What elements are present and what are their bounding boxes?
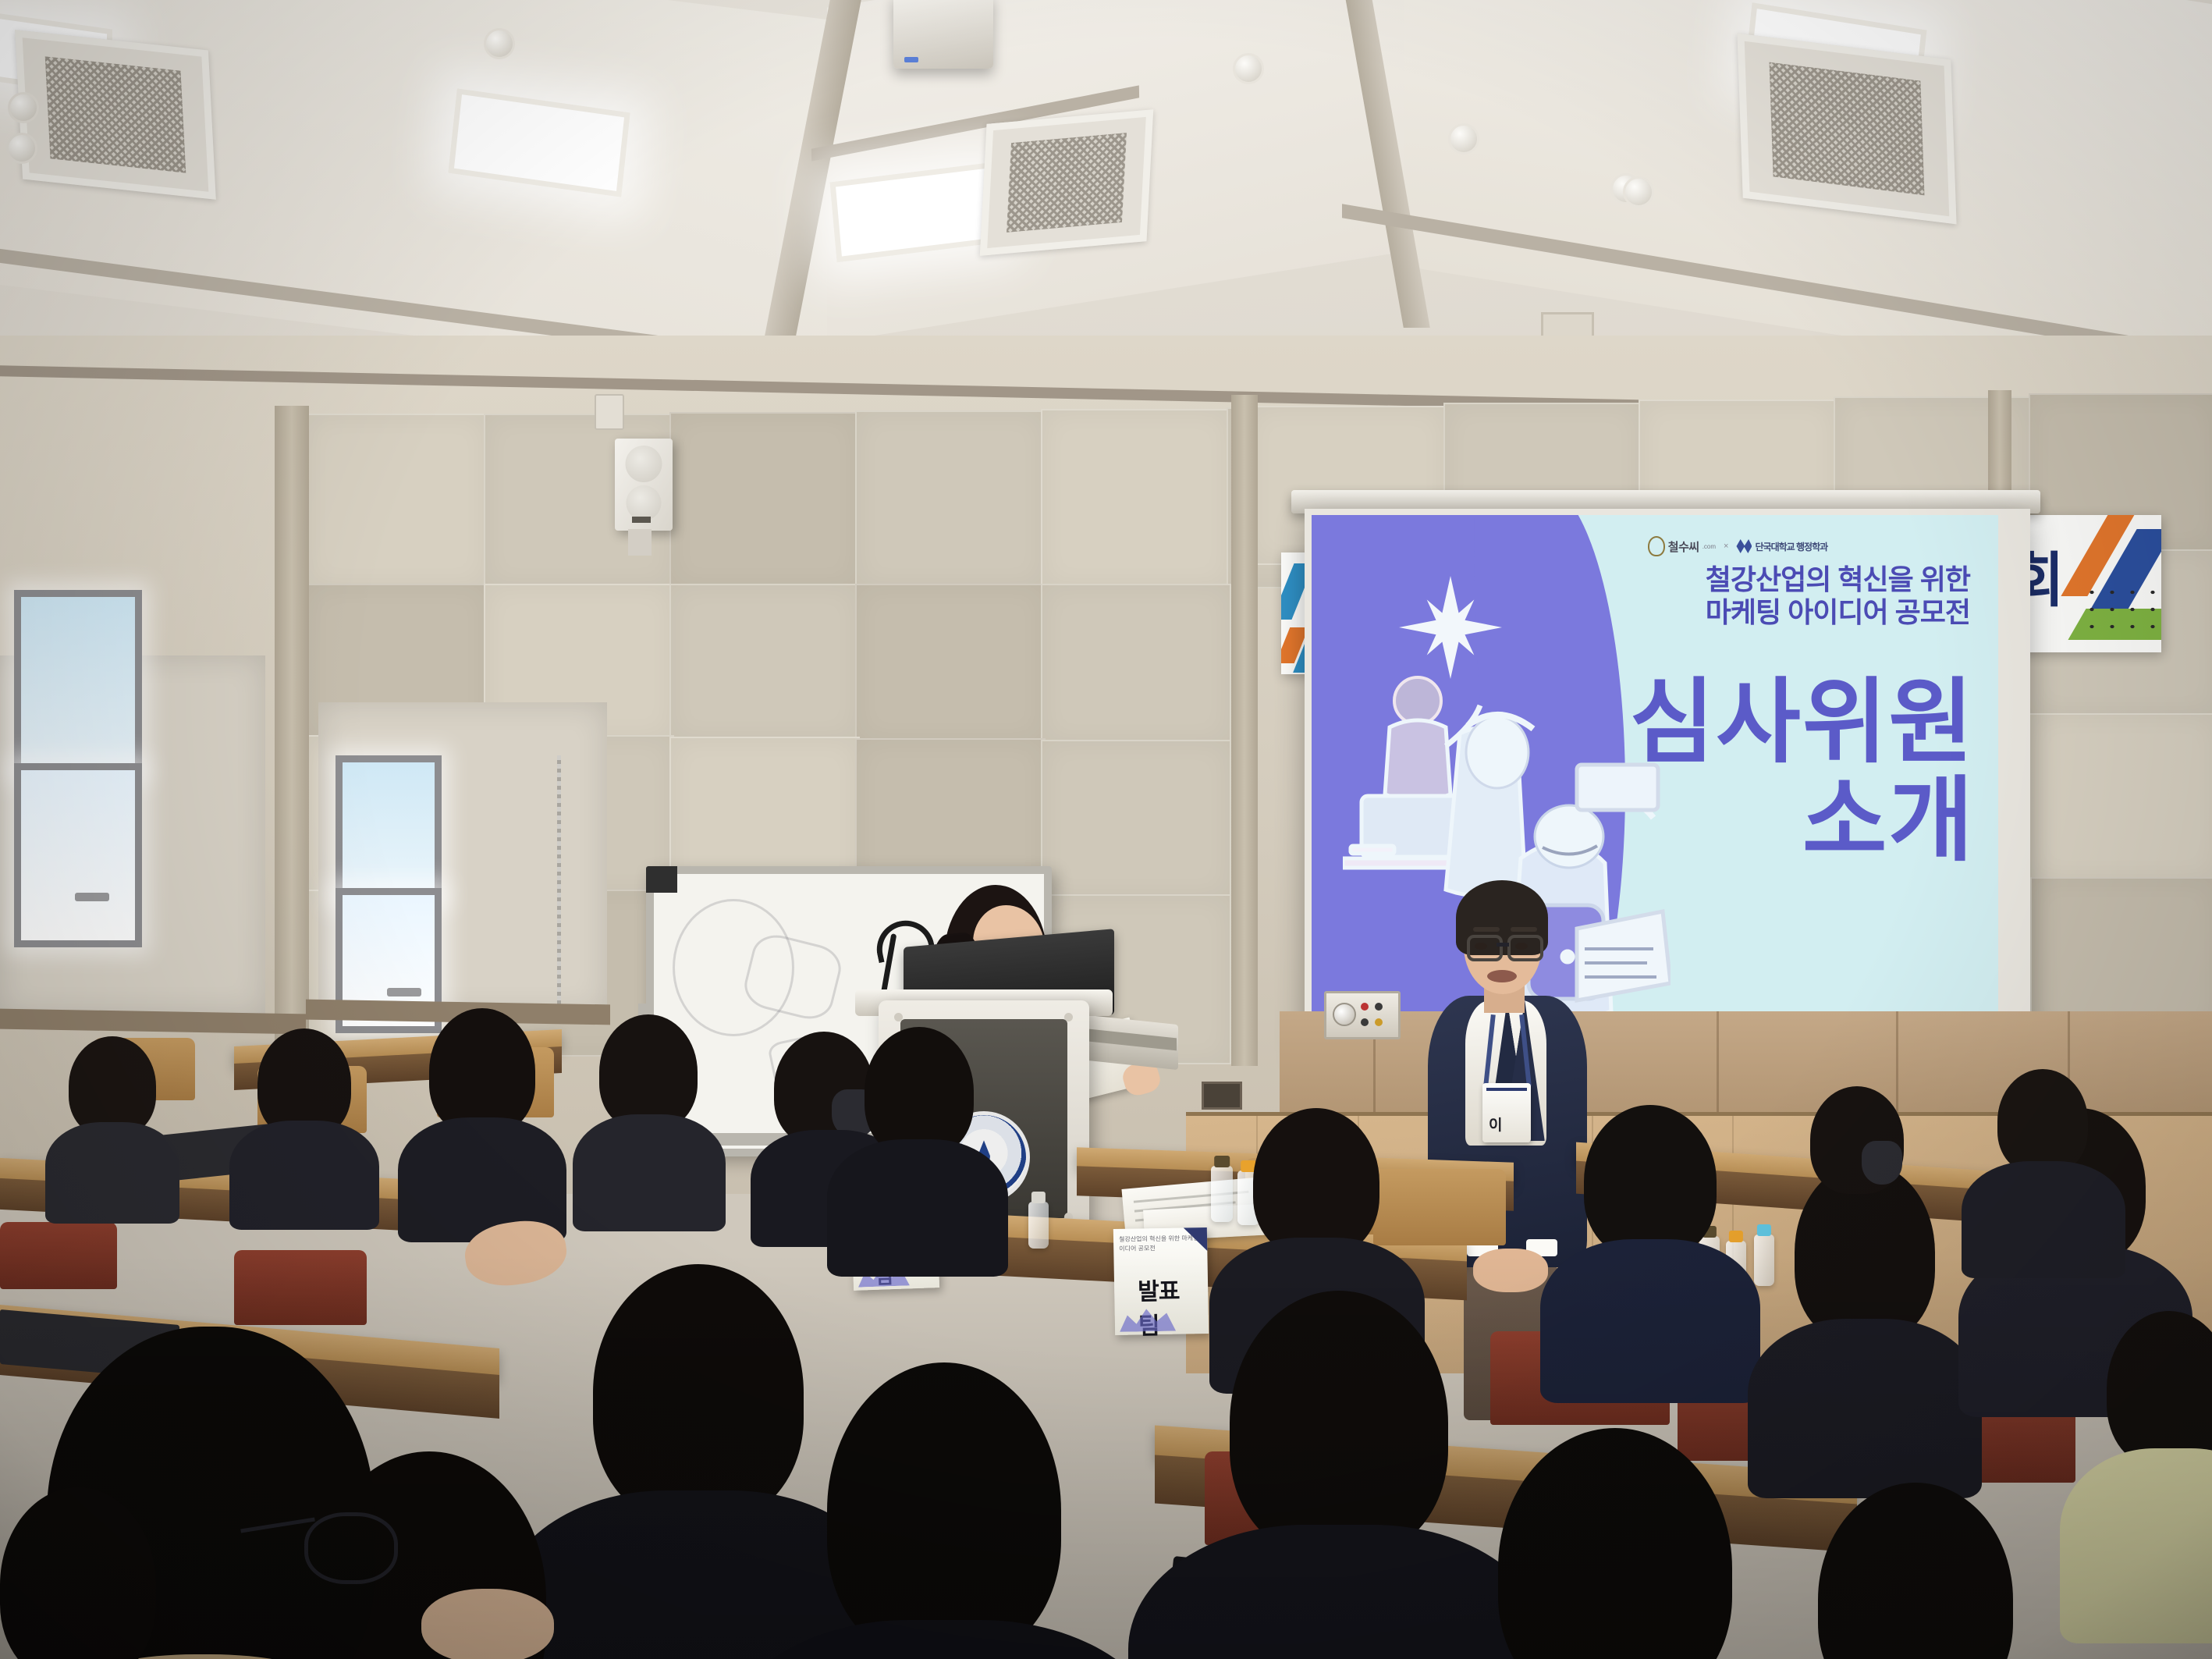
wall-sensor-box xyxy=(595,394,624,430)
window-glass xyxy=(21,597,135,770)
ceiling-ac-vent-3 xyxy=(1737,34,1956,225)
logo-separator: × xyxy=(1724,542,1728,551)
shoulders xyxy=(229,1121,379,1230)
floor-outlet[interactable] xyxy=(1202,1082,1242,1110)
shoulders xyxy=(1540,1239,1760,1403)
judge-eyebrow-left xyxy=(1473,927,1500,932)
water-bottle[interactable] xyxy=(1754,1234,1774,1286)
wall-speaker xyxy=(615,439,673,531)
judge-eye-right xyxy=(1515,943,1528,950)
window-handle-left[interactable] xyxy=(75,893,109,901)
wall-panel xyxy=(669,412,860,588)
window-glass xyxy=(343,762,435,895)
wall-panel xyxy=(855,584,1046,743)
head xyxy=(599,1014,698,1130)
blind-chain[interactable] xyxy=(557,755,561,1005)
glasses-lens xyxy=(304,1512,398,1584)
judge-eyebrow-right xyxy=(1511,927,1537,932)
water-bottle[interactable] xyxy=(1028,1202,1049,1249)
shoulders xyxy=(45,1122,179,1224)
head xyxy=(865,1027,974,1156)
logo-university: 단국대학교 행정학과 xyxy=(1736,539,1827,553)
head xyxy=(429,1008,535,1135)
wall-pillar xyxy=(275,406,309,1064)
ceiling-detector-6 xyxy=(6,133,37,164)
logo-chulsoo: 철수씨 .com xyxy=(1648,536,1716,556)
bottle-cap xyxy=(1031,1192,1046,1203)
slide-headline: 철강산업의 혁신을 위한 마케팅 아이디어 공모전 xyxy=(1706,563,1970,630)
face-mask xyxy=(1862,1141,1902,1185)
head xyxy=(827,1362,1061,1659)
window-left-lower xyxy=(14,763,142,947)
head xyxy=(593,1264,804,1522)
slide-headline-line1: 철강산업의 혁신을 위한 xyxy=(1706,563,1970,596)
wall-panel xyxy=(2029,713,2212,880)
ceiling-ac-vent-1 xyxy=(15,30,216,200)
logo-badge-icon xyxy=(1648,536,1665,556)
speaker-port xyxy=(632,517,651,523)
head xyxy=(1253,1108,1379,1256)
slide-headline-line2: 마케팅 아이디어 공모전 xyxy=(1706,596,1970,629)
logo-left-name: 철수씨 xyxy=(1668,538,1699,555)
head xyxy=(1230,1291,1448,1556)
slide-partner-logos: 철수씨 .com × 단국대학교 행정학과 xyxy=(1621,535,1855,557)
hand xyxy=(421,1589,554,1659)
wall-panel xyxy=(1041,584,1231,744)
ceiling-projector xyxy=(893,0,993,69)
podium-screw xyxy=(1064,1013,1073,1021)
speaker-bracket xyxy=(628,529,652,556)
window-handle-right[interactable] xyxy=(387,988,421,996)
wall-panel xyxy=(1041,409,1231,588)
bottle-cap xyxy=(1757,1224,1771,1236)
shoulders xyxy=(1128,1525,1550,1659)
judge-name-badge: 이 xyxy=(1482,1083,1531,1142)
shoulders xyxy=(827,1139,1008,1277)
ceiling-detector-3 xyxy=(1448,123,1479,155)
window-right-upper xyxy=(336,755,442,902)
chair-back[interactable] xyxy=(234,1250,367,1325)
name-card-2: 철강산업의 혁신을 위한 마케팅 아이디어 공모전 발표팀 xyxy=(1113,1227,1209,1335)
window-left-upper xyxy=(14,590,142,777)
bottle-cap xyxy=(1729,1231,1743,1242)
av-plate-dial[interactable] xyxy=(1333,1003,1356,1026)
judge-mouth xyxy=(1487,970,1517,982)
shoulders xyxy=(1962,1161,2125,1278)
badge-name: 이 xyxy=(1489,1114,1502,1135)
shoulders xyxy=(1748,1319,1982,1498)
speaker-driver-bottom xyxy=(627,485,662,520)
ceiling-detector-2 xyxy=(1233,53,1264,84)
chair-back[interactable] xyxy=(0,1222,117,1289)
slide-title: 심사위원 소개 xyxy=(1630,676,1975,869)
ceiling-ac-vent-2 xyxy=(980,109,1153,256)
logo-right-name: 단국대학교 행정학과 xyxy=(1755,540,1827,553)
head xyxy=(69,1036,156,1136)
university-mark-icon xyxy=(1736,539,1752,553)
glasses-bridge xyxy=(1497,943,1509,947)
ceiling-detector-7 xyxy=(1623,176,1654,208)
wall-pillar xyxy=(1231,395,1258,1066)
ceiling-detector-5 xyxy=(8,92,39,123)
wall-panel xyxy=(1041,740,1231,899)
badge-header-bar xyxy=(1486,1088,1527,1091)
projection-screen: 철수씨 .com × 단국대학교 행정학과 철강산업의 혁신을 위한 마케팅 아… xyxy=(1305,509,2030,1055)
banner-dot-grid xyxy=(2082,584,2161,631)
wall-panel xyxy=(669,584,860,741)
logo-left-suffix: .com xyxy=(1702,543,1716,550)
judge-eye-left xyxy=(1475,943,1487,950)
slide-title-line1: 심사위원 xyxy=(1630,676,1975,769)
water-bottle[interactable] xyxy=(1211,1166,1233,1222)
window-glass xyxy=(21,770,135,940)
ceiling-detector-1 xyxy=(484,28,515,59)
projected-slide: 철수씨 .com × 단국대학교 행정학과 철강산업의 혁신을 위한 마케팅 아… xyxy=(1312,515,1998,1046)
name-card-corner-icon xyxy=(1184,1227,1208,1252)
head xyxy=(1584,1105,1717,1258)
wall-panel xyxy=(306,414,488,588)
shoulders xyxy=(573,1114,726,1231)
podium-screw xyxy=(894,1013,903,1021)
speaker-driver-top xyxy=(626,446,662,482)
bottle-cap xyxy=(1214,1156,1230,1167)
slide-title-line2: 소개 xyxy=(1630,774,1975,868)
chair-back[interactable] xyxy=(1373,1169,1506,1245)
wall-panel xyxy=(855,410,1046,588)
av-wall-plate[interactable] xyxy=(1324,991,1401,1039)
shoulders xyxy=(2060,1448,2212,1643)
head xyxy=(1997,1069,2088,1174)
lecture-hall-photo: 빅터 회 xyxy=(0,0,2212,1659)
judge-clasped-hands xyxy=(1473,1249,1548,1292)
